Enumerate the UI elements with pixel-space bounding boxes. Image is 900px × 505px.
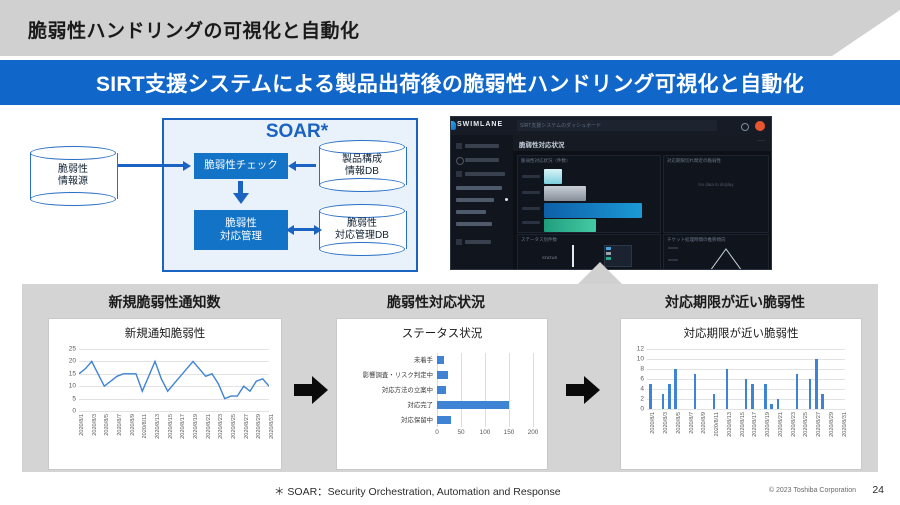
footnote: ＊ SOAR：Security Orchestration, Automatio… [274,484,561,499]
arrow-right-icon-2 [566,375,600,405]
line-series [79,349,269,411]
y-axis-label: 2 [640,396,644,403]
bar-row: 影響調査・リスク判定中 [437,369,533,381]
bar [694,374,697,409]
section-title-0: 新規脆弱性通知数 [42,292,287,312]
gridline [533,353,534,427]
bar [777,399,780,409]
x-axis-label: 2020/8/5 [104,414,110,436]
y-axis-label: 5 [72,395,76,402]
section-title-2: 対応期限が近い脆弱性 [600,292,870,312]
box-vulnerability-check: 脆弱性チェック [194,153,288,179]
gridline [647,349,845,350]
cyl-mgmt-line2: 対応管理DB [335,230,389,243]
panel-trend-title: チケット処理時間の推移傾向 [667,237,726,243]
arrowhead-to-check [183,161,191,171]
chart-card-status: ステータス状況 050100150200未着手影響調査・リスク判定中対応方法の立… [336,318,548,470]
bar [815,359,818,409]
panel-empty: 対応期限切れ間近の脆弱性 No data to display [663,155,769,233]
cyl-prod-line2: 情報DB [345,166,379,179]
cylinder-response-mgmt-db: 脆弱性 対応管理DB [319,204,405,256]
bar-category-label: 対応保留中 [401,415,433,424]
sidebar-item-2[interactable] [456,157,508,163]
chart-title-1: ステータス状況 [337,325,547,341]
x-axis-label: 2020/8/23 [218,414,224,439]
x-axis-label: 2020/8/19 [765,412,771,437]
x-axis-label: 2020/8/13 [155,414,161,439]
panel-bar-title: 脆弱性対応状況（件数） [521,158,571,164]
chart-card-deadline: 対応期限が近い脆弱性 0246810122020/8/12020/8/32020… [620,318,862,470]
plot-area-0: 05101520252020/8/12020/8/32020/8/52020/8… [79,349,269,411]
x-axis-tick: 150 [504,429,515,436]
x-axis-label: 2020/8/27 [816,412,822,437]
bar [809,379,812,409]
search-placeholder: SIRT支援システムのダッシュボード [520,122,601,129]
chart-title-2: 対応期限が近い脆弱性 [621,325,861,341]
bar-category-label: 未着手 [414,355,433,364]
bar [764,384,767,409]
panel-bar-chart: 脆弱性対応状況（件数） [517,155,661,233]
x-axis-tick: 100 [480,429,491,436]
dash-bar-3 [544,203,642,218]
page-title: 脆弱性ハンドリングの可視化と自動化 [28,16,360,43]
bar [662,394,665,409]
panel-trend: チケット処理時間の推移傾向 [663,234,769,270]
x-axis-label: 2020/8/7 [689,412,695,434]
dashboard-sidebar[interactable] [451,135,514,269]
x-axis-label: 2020/8/3 [92,414,98,436]
arrow-right-icon-1 [294,375,328,405]
x-axis-tick: 200 [528,429,539,436]
bar-row: 対応完了 [437,399,533,411]
bar [821,394,824,409]
y-axis-label: 8 [640,366,644,373]
x-axis-label: 2020/8/31 [269,414,275,439]
y-axis-label: 12 [637,346,644,353]
y-axis-label: 0 [72,408,76,415]
bar-row: 対応保留中 [437,414,533,426]
page-number: 24 [872,484,884,496]
panel-status-title: ステータス別件数 [521,237,557,243]
banner-title: SIRT支援システムによる製品出荷後の脆弱性ハンドリング可視化と自動化 [0,60,900,105]
sidebar-item-7[interactable] [456,221,508,227]
x-axis-label: 2020/8/11 [142,414,148,438]
panel-empty-title: 対応期限切れ間近の脆弱性 [667,158,721,164]
swimlane-logo-text: SWIMLANE [457,121,503,128]
x-axis-label: 2020/8/29 [829,412,835,437]
dash-bar-2 [544,186,586,201]
bar [745,379,748,409]
dashboard-main: 脆弱性対応状況 脆弱性対応状況（件数） 対応期限切れ間近の脆弱性 No data… [513,135,771,269]
bar [674,369,677,409]
sidebar-item-4[interactable] [456,185,508,191]
x-axis-label: 2020/8/17 [752,412,758,437]
y-axis-label: 0 [640,406,644,413]
cylinder-vulnerability-source: 脆弱性 情報源 [30,146,116,206]
chart-card-new-notifications: 新規通知脆弱性 05101520252020/8/12020/8/32020/8… [48,318,282,470]
x-axis-label: 2020/8/31 [842,412,848,437]
bar-row: 対応方法の立案中 [437,384,533,396]
arrow-proddb-to-check [294,164,316,167]
bar-fill [437,356,444,364]
bar-fill [437,416,451,424]
x-axis-label: 2020/8/17 [180,414,186,439]
bar-row: 未着手 [437,354,533,366]
x-axis-tick: 0 [435,429,439,436]
avatar[interactable] [755,121,765,131]
y-axis-label: 25 [69,346,76,353]
bar-category-label: 対応完了 [407,400,433,409]
sidebar-item-8[interactable] [456,239,508,245]
gridline [647,409,845,410]
cyl-prod-line1: 製品構成 [342,154,382,167]
x-axis-label: 2020/8/29 [256,414,262,439]
y-axis-label: 20 [69,358,76,365]
dash-bar-1 [544,169,562,184]
trend-sparkline [664,245,768,270]
x-axis-label: 2020/8/15 [168,414,174,439]
box-manage-line1: 脆弱性 [220,217,262,230]
y-axis-label: 10 [637,356,644,363]
dash-bar-4 [544,219,596,232]
sidebar-item-3[interactable] [456,171,508,177]
swimlane-logo: SWIMLANE [457,121,503,128]
sidebar-item-6[interactable] [456,209,508,215]
dashboard-screenshot[interactable]: SWIMLANE SIRT支援システムのダッシュボード [450,116,772,270]
arrowhead-manage-left [286,225,294,235]
arrowhead-down [233,193,249,204]
y-axis-label: 6 [640,376,644,383]
bar-fill [437,386,446,394]
plot-area-1: 050100150200未着手影響調査・リスク判定中対応方法の立案中対応完了対応… [437,353,533,427]
cylinder-product-config-db: 製品構成 情報DB [319,140,405,192]
pointer-triangle [578,262,622,284]
section-title-1: 脆弱性対応状況 [336,292,536,312]
soar-diagram: SOAR* 脆弱性 情報源 製品構成 情報DB 脆弱性 対応管理DB 脆弱性チェ… [22,118,432,273]
x-axis-label: 2020/8/11 [714,412,720,436]
dashboard-topbar: SWIMLANE SIRT支援システムのダッシュボード [451,117,771,135]
x-axis-label: 2020/8/25 [803,412,809,437]
x-axis-label: 2020/8/9 [130,414,136,436]
dashboard-heading: 脆弱性対応状況 [519,139,565,149]
bar [713,394,716,409]
bar-category-label: 対応方法の立案中 [382,385,433,394]
arrowhead-to-check-left [288,161,296,171]
cyl-src-line1: 脆弱性 [58,164,88,177]
arrow-source-to-check [118,164,184,167]
cyl-src-line2: 情報源 [58,176,88,189]
y-axis-label: 10 [69,383,76,390]
bar-category-label: 影響調査・リスク判定中 [363,370,433,379]
box-vulnerability-response-mgmt: 脆弱性 対応管理 [194,210,288,250]
box-manage-line2: 対応管理 [220,230,262,243]
bar-fill [437,371,448,379]
search-input[interactable]: SIRT支援システムのダッシュボード [517,120,717,131]
cyl-mgmt-line1: 脆弱性 [347,218,377,231]
x-axis-label: 2020/8/9 [701,412,707,434]
x-axis-label: 2020/8/1 [79,414,85,436]
copyright: © 2023 Toshiba Corporation [769,487,856,494]
bar [796,374,799,409]
dashboard-header: 脆弱性対応状況 [513,135,771,151]
bar [770,404,773,409]
x-axis-label: 2020/8/19 [193,414,199,439]
x-axis-label: 2020/8/5 [676,412,682,434]
sidebar-item-1[interactable] [456,143,508,149]
slide: 脆弱性ハンドリングの可視化と自動化 SIRT支援システムによる製品出荷後の脆弱性… [0,0,900,505]
sidebar-item-5[interactable] [456,197,508,203]
x-axis-tick: 50 [457,429,464,436]
x-axis-label: 2020/8/7 [117,414,123,436]
bar [726,369,729,409]
chart-title-0: 新規通知脆弱性 [49,325,281,341]
plot-area-2: 0246810122020/8/12020/8/32020/8/52020/8/… [647,349,845,409]
x-axis-label: 2020/8/21 [206,414,212,439]
y-axis-label: 15 [69,370,76,377]
x-axis-label: 2020/8/3 [663,412,669,434]
x-axis-label: 2020/8/15 [740,412,746,437]
bar [649,384,652,409]
x-axis-label: 2020/8/23 [791,412,797,437]
x-axis-label: 2020/8/1 [650,412,656,434]
swimlane-logo-icon [450,121,456,130]
bar [668,384,671,409]
x-axis-label: 2020/8/27 [244,414,250,439]
panel-empty-text: No data to display [664,182,768,187]
bar-fill [437,401,509,409]
x-axis-label: 2020/8/21 [778,412,784,437]
x-axis-label: 2020/8/25 [231,414,237,439]
x-axis-label: 2020/8/13 [727,412,733,437]
bar [751,384,754,409]
gridline [79,411,269,412]
y-axis-label: 4 [640,386,644,393]
search-icon[interactable] [741,123,749,131]
